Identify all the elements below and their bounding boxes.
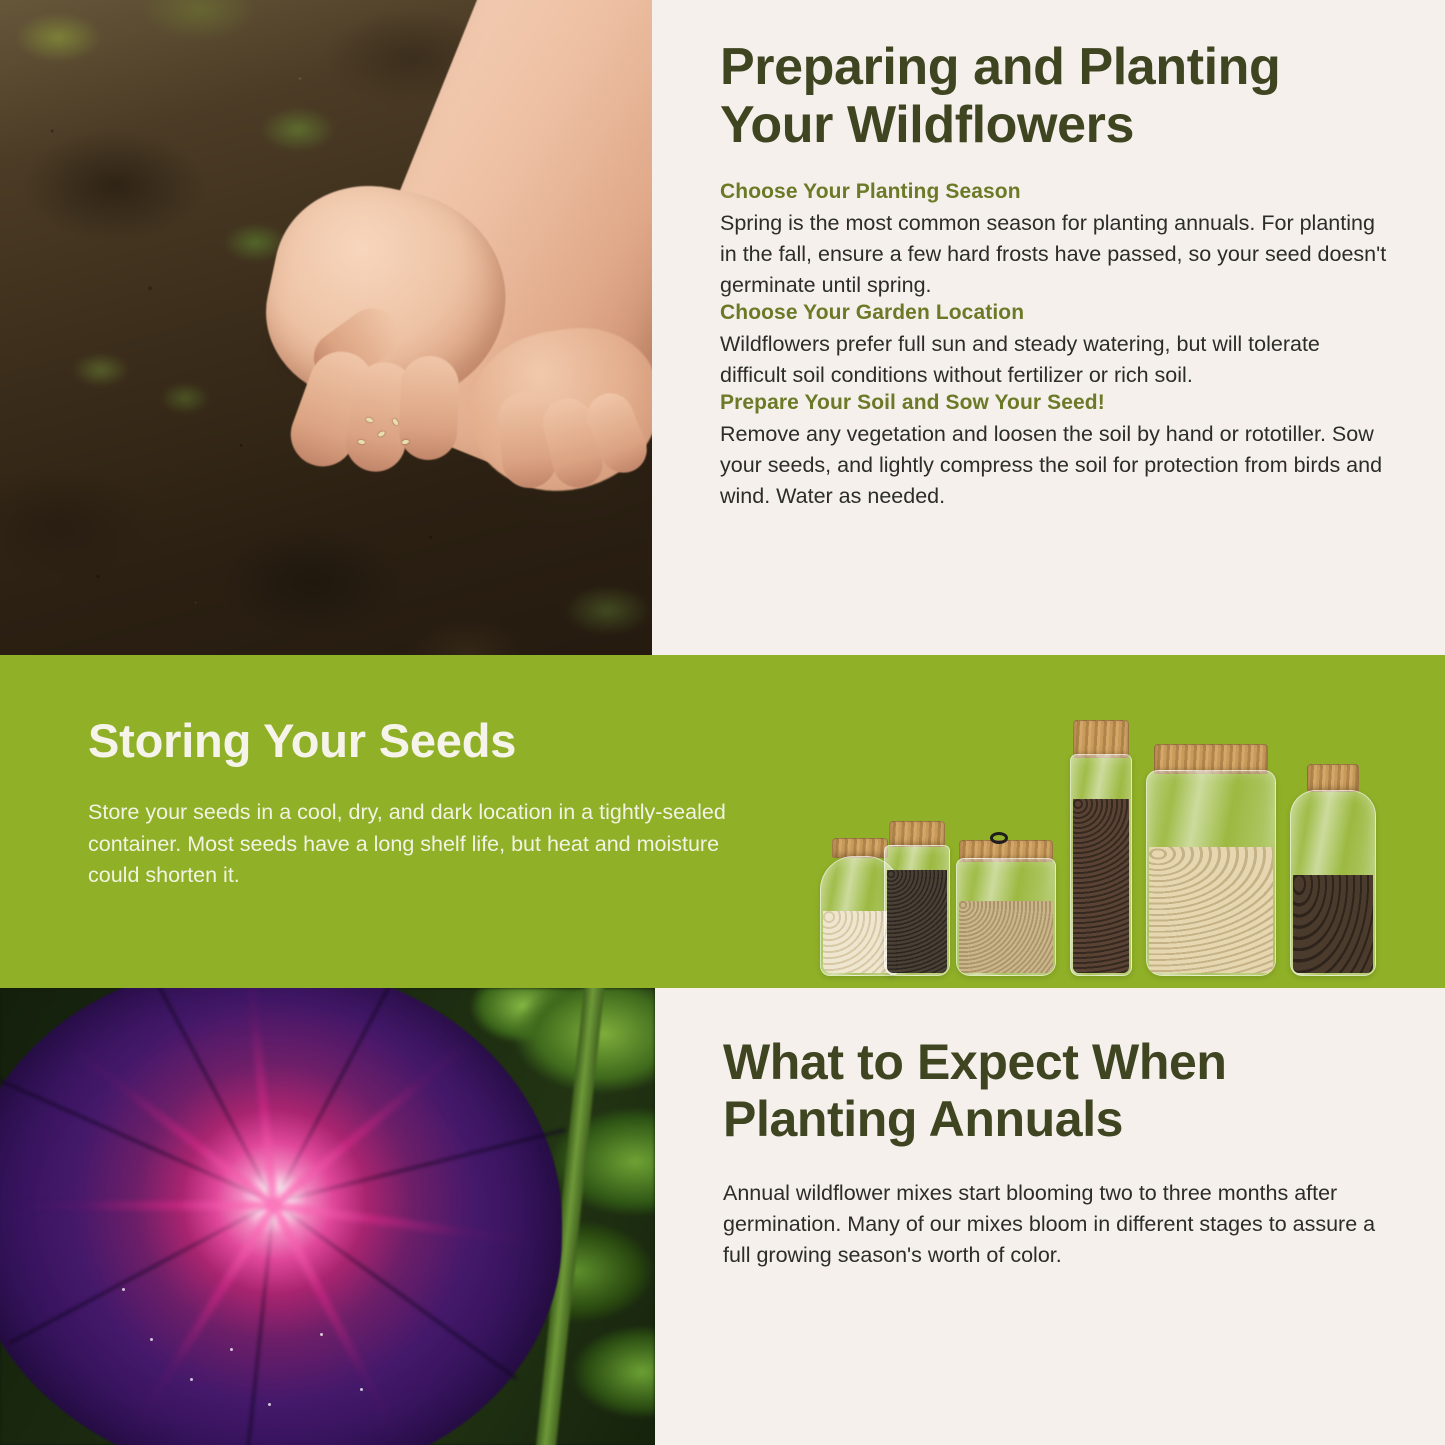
block-garden-location: Choose Your Garden Location Wildflowers … xyxy=(720,301,1389,391)
petal-ray xyxy=(273,1201,532,1246)
seed-storage-jars-photo xyxy=(820,676,1390,976)
infographic-page: Preparing and Planting Your Wildflowers … xyxy=(0,0,1445,1445)
block-planting-season: Choose Your Planting Season Spring is th… xyxy=(720,180,1389,301)
seed-fill-tan xyxy=(959,901,1053,973)
cork-lid xyxy=(832,838,888,858)
petal-ray xyxy=(271,1035,476,1209)
body-garden-location: Wildflowers prefer full sun and steady w… xyxy=(720,329,1389,391)
body-planting-season: Spring is the most common season for pla… xyxy=(720,208,1389,301)
seed-fill-pumpkin xyxy=(1149,847,1273,973)
seed-fill-dark xyxy=(1073,799,1129,973)
petal-crease xyxy=(273,1201,517,1380)
pollen-speck xyxy=(360,1388,363,1391)
body-prepare-soil: Remove any vegetation and loosen the soi… xyxy=(720,419,1389,512)
pollen-speck xyxy=(268,1403,271,1406)
seed-fill-black xyxy=(887,870,947,973)
morning-glory-bloom xyxy=(0,988,562,1445)
jar-tall-tube-dark-seed xyxy=(1070,720,1132,976)
glass-body xyxy=(1290,790,1376,976)
glass-body xyxy=(1070,754,1132,976)
glass-body xyxy=(956,858,1056,976)
pollen-speck xyxy=(150,1338,153,1341)
seed-fill-sunflower xyxy=(1293,875,1373,973)
pollen-speck xyxy=(230,1348,233,1351)
soil-planting-photo xyxy=(0,0,652,655)
storing-body: Store your seeds in a cool, dry, and dar… xyxy=(88,797,728,892)
cork-lid xyxy=(1307,764,1359,792)
petal-ray xyxy=(270,1204,400,1438)
page-title: Preparing and Planting Your Wildflowers xyxy=(720,38,1389,154)
section-preparing-and-planting: Preparing and Planting Your Wildflowers … xyxy=(0,0,1445,655)
expect-body: Annual wildflower mixes start blooming t… xyxy=(723,1178,1389,1271)
pollen-speck xyxy=(320,1333,323,1336)
top-text-column: Preparing and Planting Your Wildflowers … xyxy=(652,0,1445,655)
cork-lid xyxy=(1073,720,1129,758)
expect-title: What to Expect When Planting Annuals xyxy=(723,1034,1389,1148)
storing-title: Storing Your Seeds xyxy=(88,715,728,767)
subheading-garden-location: Choose Your Garden Location xyxy=(720,301,1389,325)
pollen-speck xyxy=(122,1288,125,1291)
jar-sunflower-seeds xyxy=(1290,764,1376,976)
petal-ray xyxy=(14,1201,274,1210)
cork-lid xyxy=(889,821,945,847)
section-what-to-expect: What to Expect When Planting Annuals Ann… xyxy=(0,988,1445,1445)
morning-glory-photo xyxy=(0,988,655,1445)
subheading-prepare-soil: Prepare Your Soil and Sow Your Seed! xyxy=(720,391,1389,415)
block-prepare-soil: Prepare Your Soil and Sow Your Seed! Rem… xyxy=(720,391,1389,512)
finger-shape xyxy=(398,355,460,461)
jar-black-seed xyxy=(884,821,950,976)
green-band-text: Storing Your Seeds Store your seeds in a… xyxy=(88,715,728,892)
jar-pumpkin-seeds xyxy=(1146,744,1276,976)
pollen-speck xyxy=(190,1378,193,1381)
jar-tan-grain xyxy=(956,836,1056,976)
subheading-planting-season: Choose Your Planting Season xyxy=(720,180,1389,204)
bottom-text-column: What to Expect When Planting Annuals Ann… xyxy=(655,988,1445,1445)
glass-body xyxy=(1146,770,1276,976)
jar-clasp xyxy=(990,832,1008,844)
glass-body xyxy=(884,845,950,976)
